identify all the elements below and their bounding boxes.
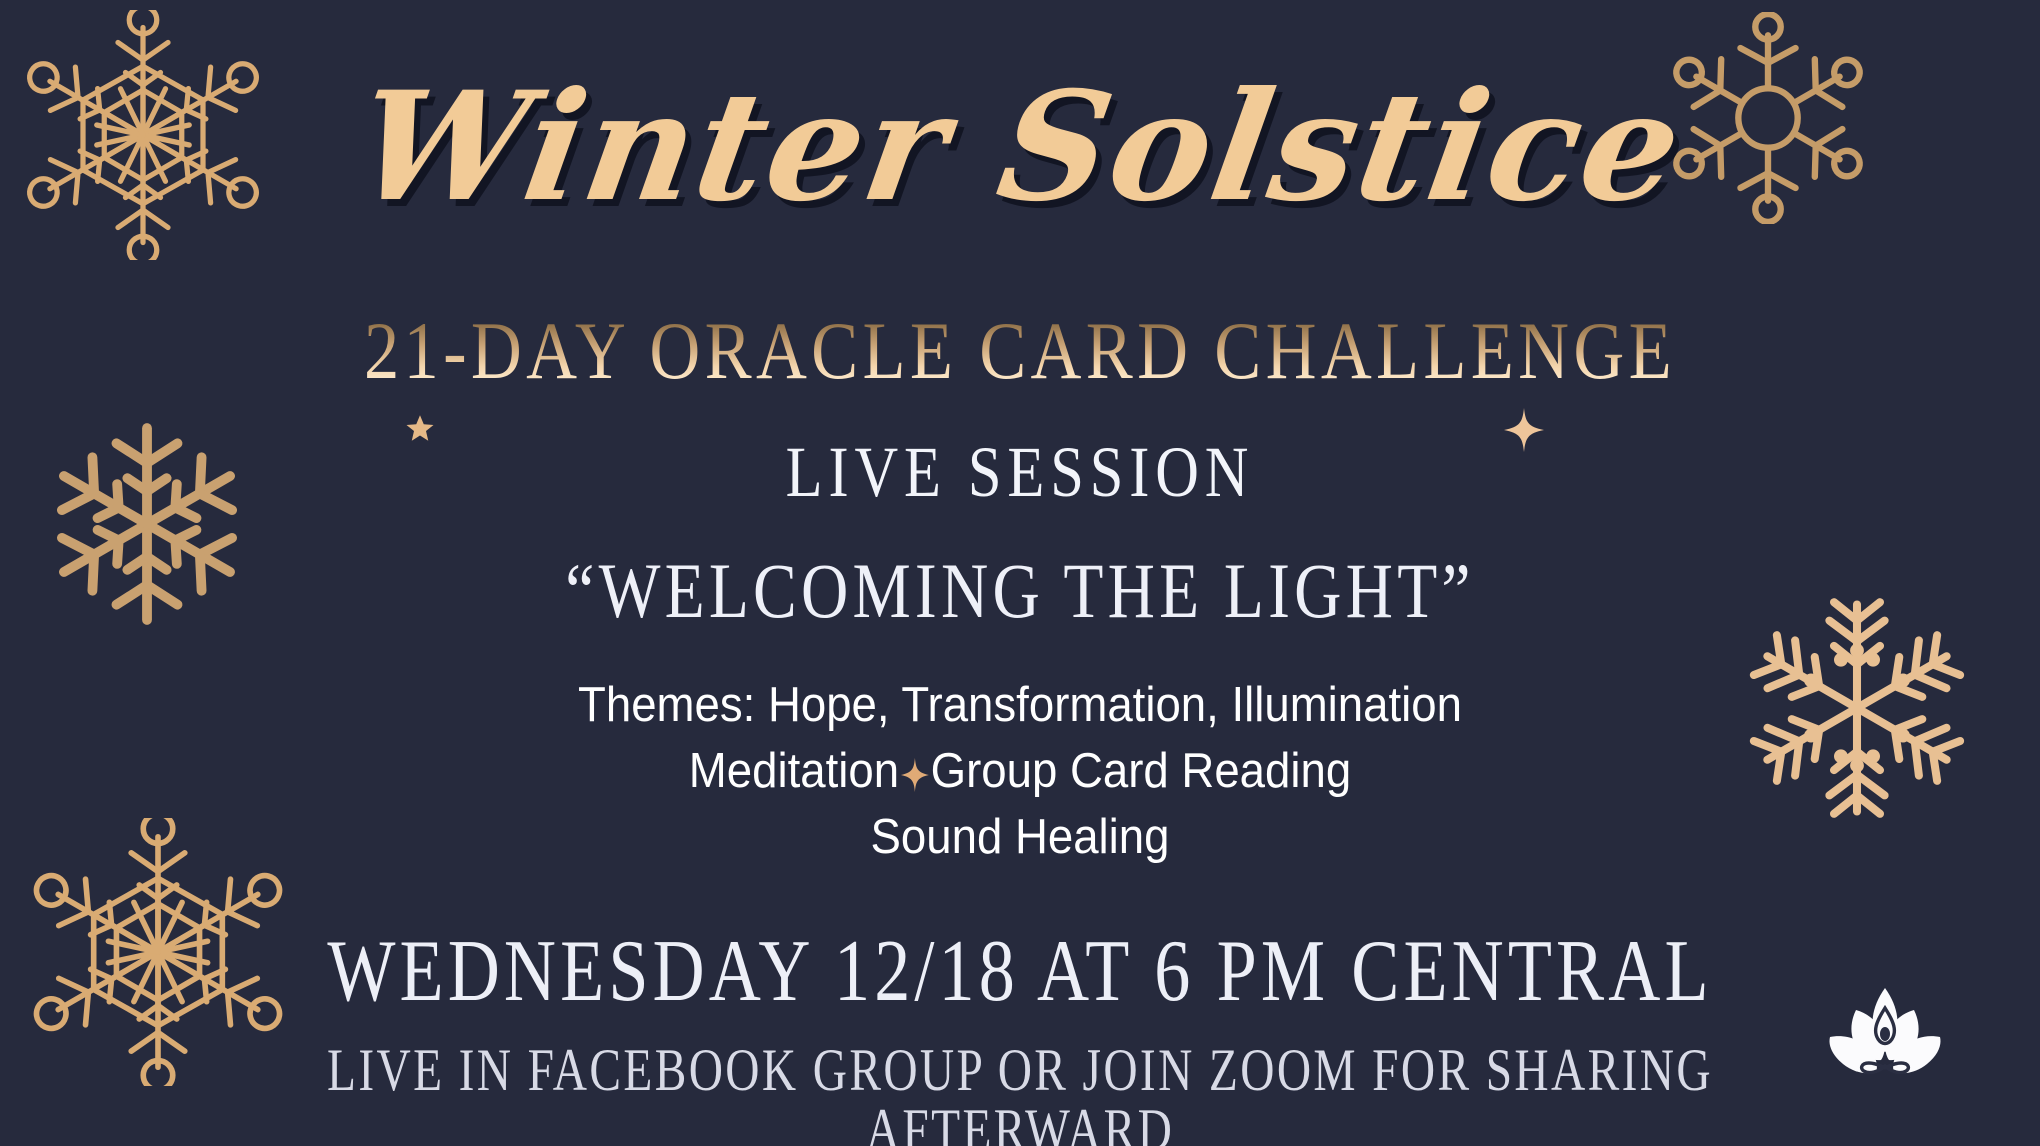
session-name: “WELCOMING THE LIGHT” <box>163 552 1877 630</box>
four-point-sparkle-icon <box>901 758 929 792</box>
event-location-note: LIVE IN FACEBOOK GROUP OR JOIN ZOOM FOR … <box>214 1040 1826 1146</box>
page-title: Winter Solstice <box>0 72 2040 222</box>
details-sound-healing: Sound Healing <box>71 804 1968 870</box>
poster-content: Winter Solstice 21-DAY ORACLE CARD CHALL… <box>0 0 2040 1146</box>
subtitle-challenge: 21-DAY ORACLE CARD CHALLENGE <box>143 310 1897 392</box>
session-details: Themes: Hope, Transformation, Illuminati… <box>71 672 1968 870</box>
activity-group-card-reading: Group Card Reading <box>931 744 1352 798</box>
live-session-label: LIVE SESSION <box>163 436 1877 508</box>
details-themes: Themes: Hope, Transformation, Illuminati… <box>71 672 1968 738</box>
activity-meditation: Meditation <box>689 744 899 798</box>
lotus-flame-logo-icon <box>1818 982 1952 1094</box>
winter-solstice-poster: Winter Solstice 21-DAY ORACLE CARD CHALL… <box>0 0 2040 1146</box>
details-activities: Meditation Group Card Reading <box>71 738 1968 804</box>
event-date-time: WEDNESDAY 12/18 AT 6 PM CENTRAL <box>184 928 1857 1016</box>
